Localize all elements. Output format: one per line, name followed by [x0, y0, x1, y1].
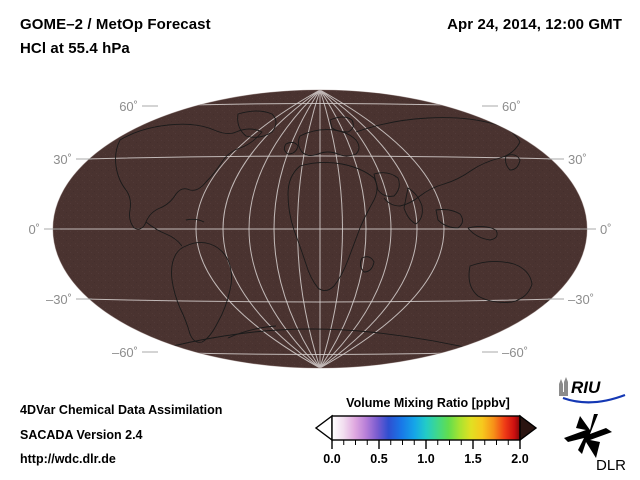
dlr-logo: DLR [560, 412, 634, 474]
riu-logo: RIU [553, 376, 633, 406]
colorbar-gradient-bar [332, 416, 520, 440]
lat-label-minus60-left: –60˚ [112, 345, 138, 360]
colorbar-left-cap-arrow [316, 416, 332, 440]
header-species-level: HCl at 55.4 hPa [20, 40, 130, 57]
dlr-mark-icon [564, 414, 612, 458]
colorbar-title: Volume Mixing Ratio [ppbv] [312, 396, 544, 410]
colorbar-right-cap-arrow [520, 416, 536, 440]
lat-label-minus60-right: –60˚ [502, 345, 528, 360]
footer-version-label: SACADA Version 2.4 [20, 428, 143, 442]
footer-method-label: 4DVar Chemical Data Assimilation [20, 403, 222, 417]
colorbar-tick-label-0: 0.0 [323, 452, 340, 466]
colorbar: Volume Mixing Ratio [ppbv] [312, 396, 544, 472]
lat-label-minus30-left: –30˚ [46, 292, 72, 307]
dlr-wordmark: DLR [596, 457, 626, 474]
header-timestamp: Apr 24, 2014, 12:00 GMT [447, 16, 622, 33]
riu-wordmark: RIU [571, 378, 601, 397]
lat-label-0-right: 0˚ [600, 222, 612, 237]
colorbar-tick-label-2: 1.0 [417, 452, 434, 466]
colorbar-tick-label-1: 0.5 [370, 452, 387, 466]
colorbar-tick-label-3: 1.5 [464, 452, 481, 466]
header-instrument-title: GOME–2 / MetOp Forecast [20, 16, 211, 33]
colorbar-scale: 0.0 0.5 1.0 1.5 2.0 [312, 414, 544, 470]
lat-label-60-left: 60˚ [119, 99, 138, 114]
lat-label-30-right: 30˚ [568, 152, 587, 167]
lat-label-60-right: 60˚ [502, 99, 521, 114]
lat-label-0-left: 0˚ [28, 222, 40, 237]
lat-label-minus30-right: –30˚ [568, 292, 594, 307]
mollweide-map: 60˚ 60˚ 30˚ 30˚ 0˚ 0˚ –30˚ –30˚ –60˚ –60… [0, 70, 640, 390]
footer-url-link[interactable]: http://wdc.dlr.de [20, 452, 116, 466]
riu-tower-icon [559, 377, 568, 396]
colorbar-tick-label-4: 2.0 [511, 452, 528, 466]
map-panel: 60˚ 60˚ 30˚ 30˚ 0˚ 0˚ –30˚ –30˚ –60˚ –60… [0, 70, 640, 390]
colorbar-major-ticks [332, 440, 520, 449]
lat-label-30-left: 30˚ [53, 152, 72, 167]
